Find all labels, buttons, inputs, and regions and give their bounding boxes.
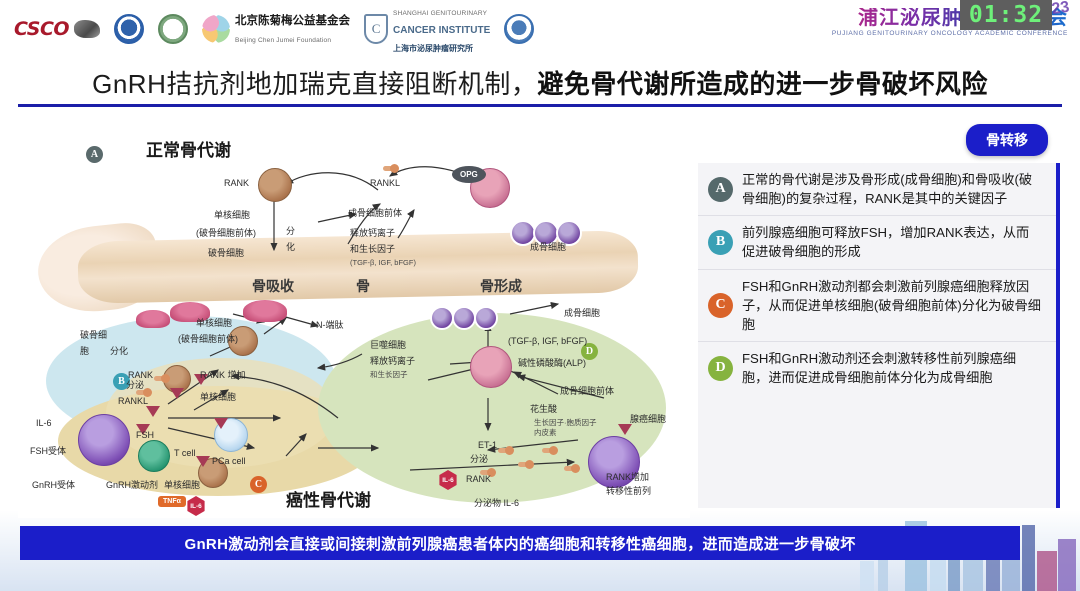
- osteoblast-precursor-label-2: 碱性磷酸酶(ALP): [518, 358, 586, 369]
- secrete-label-1: 分泌: [126, 380, 144, 391]
- macrophage-label: PCa cell: [212, 456, 246, 467]
- monocyte-label-2: 单核细胞: [196, 318, 232, 329]
- osteoblast-precursor-label: 成骨细胞前体: [348, 208, 402, 219]
- ucog-logo: [114, 14, 144, 44]
- differentiate-label-1: 分: [286, 226, 295, 237]
- normal-metabolism-title: 正常骨代谢: [146, 140, 231, 161]
- beijing-chen-jumei-foundation-logo: 北京陈菊梅公益基金会 Beijing Chen Jumei Foundation: [202, 11, 350, 47]
- differentiate-label-2: 化: [286, 242, 295, 253]
- bone-metabolism-diagram: A B C D OPG IL-6 TNFα IL-6: [18, 118, 690, 518]
- et1-label: 内皮素: [534, 428, 557, 437]
- cytokine-triangle-icon: [146, 406, 160, 417]
- info-row-b: B 前列腺癌细胞可释放FSH，增加RANK表达，从而促进破骨细胞的形成: [698, 216, 1056, 269]
- slide-title-normal: GnRH拮抗剂地加瑞克直接阻断机制，: [92, 64, 537, 101]
- diagram-marker-a: A: [86, 146, 103, 163]
- info-row-c: C FSH和GnRH激动剂都会刺激前列腺癌细胞释放因子，从而促进单核细胞(破骨细…: [698, 270, 1056, 342]
- n-telopeptide-label: N-端肽: [316, 320, 344, 331]
- blue-seal-logo: [504, 14, 534, 44]
- gnrh-agonist-label: GnRH受体: [32, 480, 75, 491]
- diagram-marker-b-label: B: [118, 376, 125, 387]
- rank-increase-label: RANK 增加: [200, 370, 246, 381]
- bone-metastasis-badge: 骨转移: [966, 124, 1048, 156]
- rankl-ligand-icon: [383, 166, 395, 171]
- flower-icon: [202, 15, 230, 43]
- growth-factor-label-2: 释放钙离子: [370, 356, 415, 367]
- t-cell: [138, 440, 170, 472]
- monocyte-label: 单核细胞: [214, 210, 250, 221]
- countdown-timer-value: 01:32: [969, 2, 1043, 28]
- info-row-d: D FSH和GnRH激动剂还会刺激转移性前列腺癌细胞，进而促进成骨细胞前体分化为…: [698, 342, 1056, 394]
- marker-a-label: A: [715, 181, 725, 197]
- calcium-release-label-2: 巨噬细胞: [370, 340, 406, 351]
- opg-molecule: OPG: [452, 166, 486, 183]
- slide-title-bold: 避免骨代谢所造成的进一步骨破坏风险: [537, 64, 988, 101]
- tnf-alpha-molecule: TNFα: [158, 496, 186, 507]
- foundation-name-en: Beijing Chen Jumei Foundation: [235, 37, 331, 44]
- rankl-label-2: RANKL: [118, 396, 148, 407]
- countdown-timer: 01:32: [960, 0, 1052, 30]
- fsh-label-2: 腺癌细胞: [630, 414, 666, 425]
- gnrh-receptor-label: FSH受体: [30, 446, 66, 457]
- bone-formation-label: 骨形成: [480, 278, 522, 296]
- secretion-il6-label: RANK: [466, 474, 491, 485]
- osteoclast-precursor-label-2: (破骨细胞前体): [178, 334, 238, 345]
- info-panel: A 正常的骨代谢是涉及骨形成(成骨细胞)和骨吸收(破骨细胞)的复杂过程，RANK…: [698, 163, 1060, 508]
- secrete-label-2: ET-1: [478, 440, 497, 451]
- rank-ligand-icon: [498, 448, 510, 453]
- cytokine-triangle-icon: [196, 456, 210, 467]
- rankl-ligand-icon: [154, 376, 166, 381]
- alp-label: 成骨细胞: [564, 308, 600, 319]
- rank-ligand-icon: [542, 448, 554, 453]
- institute-name-en1: SHANGHAI GENITOURINARY: [393, 10, 487, 17]
- cytokine-triangle-icon: [214, 418, 228, 429]
- t-cell-label: T cell: [174, 448, 195, 459]
- rank-ligand-icon: [564, 466, 576, 471]
- osteoblast-label: 成骨细胞: [530, 242, 566, 253]
- osteoclast-precursor-label: (破骨细胞前体): [196, 228, 256, 239]
- marker-b-label: B: [716, 234, 725, 250]
- rankl-label: RANKL: [370, 178, 400, 189]
- marker-b-icon: B: [708, 230, 733, 255]
- metastatic-pca-label-1: RANK增加: [606, 472, 649, 483]
- skyline-building: [1037, 551, 1057, 591]
- footer-banner: GnRH激动剂会直接或间接刺激前列腺癌患者体内的癌细胞和转移性癌细胞，进而造成进…: [20, 526, 1020, 560]
- growth-cytokine-label: 花生酸: [530, 404, 557, 415]
- fsh-receptor-label: IL-6: [36, 418, 52, 429]
- osteoblast-cell: [474, 306, 498, 330]
- osteoclast-label-2: 破骨细: [80, 330, 107, 341]
- conference-name-en: PUJIANG GENITOURINARY ONCOLOGY ACADEMIC …: [832, 31, 1068, 38]
- pca-cell: [78, 414, 130, 466]
- growth-factor-list-label-2: 和生长因子: [370, 370, 408, 379]
- cancer-metabolism-title: 癌性骨代谢: [286, 490, 371, 511]
- csco-tiger-icon: [74, 20, 100, 38]
- marker-c-icon: C: [708, 293, 733, 318]
- endothelin-label: 生长因子·胞质因子: [534, 418, 597, 427]
- info-text-a: 正常的骨代谢是涉及骨形成(成骨细胞)和骨吸收(破骨细胞)的复杂过程，RANK是其…: [742, 170, 1042, 208]
- footer-banner-text: GnRH激动剂会直接或间接刺激前列腺癌患者体内的癌细胞和转移性癌细胞，进而造成进…: [185, 533, 856, 554]
- osteoblast-label-2: (TGF-β, IGF, bFGF): [508, 336, 587, 347]
- pca-cell-label: FSH: [136, 430, 154, 441]
- rank-label: RANK: [224, 178, 249, 189]
- growth-factor-label: 和生长因子: [350, 244, 395, 255]
- csco-logo-text: CSCO: [14, 18, 69, 40]
- diagram-marker-a-label: A: [91, 149, 98, 160]
- bone-resorption-label: 骨吸收: [252, 278, 294, 296]
- osteoblast-precursor-cell: [470, 346, 512, 388]
- calcium-release-label: 释放钙离子: [350, 228, 395, 239]
- marker-d-icon: D: [708, 356, 733, 381]
- marker-c-label: C: [715, 297, 725, 313]
- green-seal-logo: [158, 14, 188, 44]
- info-text-d: FSH和GnRH激动剂还会刺激转移性前列腺癌细胞，进而促进成骨细胞前体分化为成骨…: [742, 349, 1042, 387]
- skyline-building: [860, 561, 874, 591]
- header-logo-bar: CSCO 北京陈菊梅公益基金会 Beijing Chen Jumei Found…: [0, 0, 1080, 58]
- info-row-a: A 正常的骨代谢是涉及骨形成(成骨细胞)和骨吸收(破骨细胞)的复杂过程，RANK…: [698, 163, 1056, 216]
- osteoclast-cell: [243, 300, 287, 322]
- shield-icon: C: [364, 14, 388, 44]
- info-text-c: FSH和GnRH激动剂都会刺激前列腺癌细胞释放因子，从而促进单核细胞(破骨细胞前…: [742, 277, 1042, 334]
- diagram-marker-d-label: D: [586, 346, 593, 357]
- metastatic-pca-label-2: 转移性前列: [606, 486, 651, 497]
- skyline-building: [1058, 539, 1076, 591]
- cytokine-triangle-icon: [170, 388, 184, 399]
- fsh-label-1: GnRH激动剂: [106, 480, 158, 491]
- bone-label: 骨: [356, 278, 370, 296]
- arachidonic-acid-label: 成骨细胞前体: [560, 386, 614, 397]
- foundation-name-cn: 北京陈菊梅公益基金会: [235, 15, 350, 27]
- osteoclast-label-3: 胞: [80, 346, 89, 357]
- diagram-marker-c: C: [250, 476, 267, 493]
- slide-title: GnRH拮抗剂地加瑞克直接阻断机制， 避免骨代谢所造成的进一步骨破坏风险: [0, 58, 1080, 106]
- osteoblast-cell: [430, 306, 454, 330]
- osteoclast-label: 破骨细胞: [208, 248, 244, 259]
- marker-d-label: D: [715, 360, 725, 376]
- rank-ligand-icon: [518, 462, 530, 467]
- info-text-b: 前列腺癌细胞可释放FSH，增加RANK表达，从而促进破骨细胞的形成: [742, 223, 1042, 261]
- title-divider: [18, 104, 1062, 107]
- monocyte-label-3: 单核细胞: [200, 392, 236, 403]
- growth-factor-list-label: (TGF-β, IGF, bFGF): [350, 258, 416, 267]
- institute-name-en2: CANCER INSTITUTE: [393, 25, 490, 36]
- osteoblast-cell: [452, 306, 476, 330]
- diagram-marker-c-label: C: [255, 479, 262, 490]
- monocyte-label-4: 单核细胞: [164, 480, 200, 491]
- marker-a-icon: A: [708, 177, 733, 202]
- monocyte-cell: [258, 168, 292, 202]
- cytokine-triangle-icon: [618, 424, 632, 435]
- rank-increase-label-2: 分泌物 IL-6: [474, 498, 519, 509]
- differentiate-label-3: 分化: [110, 346, 128, 357]
- skyline-building: [1022, 525, 1035, 591]
- bone-metastasis-badge-label: 骨转移: [986, 132, 1028, 148]
- institute-name-cn: 上海市泌尿肿瘤研究所: [393, 44, 473, 53]
- slide-stage: CSCO 北京陈菊梅公益基金会 Beijing Chen Jumei Found…: [0, 0, 1080, 591]
- csco-logo: CSCO: [14, 18, 100, 40]
- rank-label-3: 分泌: [470, 454, 488, 465]
- osteoclast-cell: [136, 310, 170, 328]
- shanghai-genitourinary-cancer-institute-logo: C SHANGHAI GENITOURINARY CANCER INSTITUT…: [364, 2, 490, 56]
